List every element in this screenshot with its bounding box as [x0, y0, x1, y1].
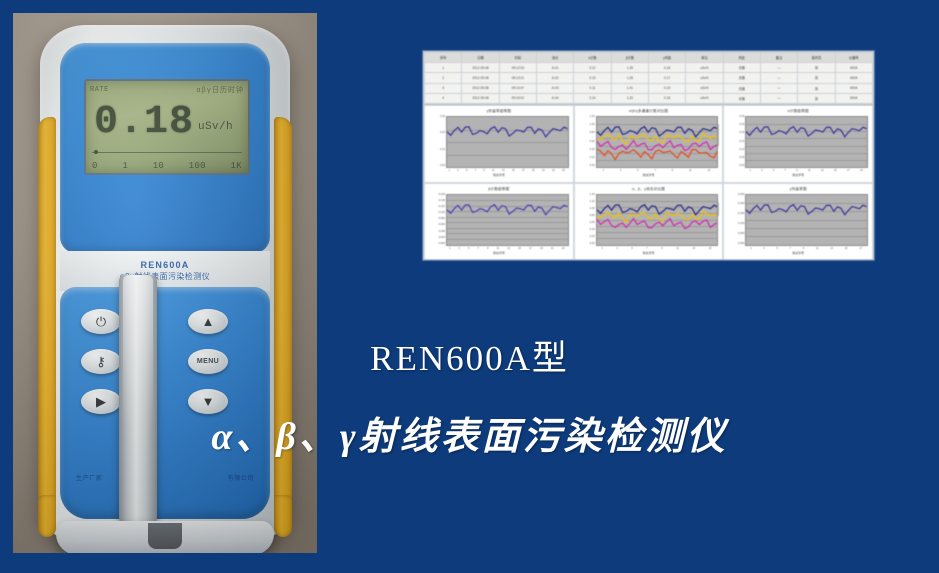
- table-cell: 张: [798, 83, 835, 93]
- lcd-reading: 0.18 uSv/h: [94, 97, 240, 149]
- y-tick-label: 0.040: [439, 231, 446, 234]
- table-cell: 张: [798, 73, 835, 83]
- x-tick-label: 13: [502, 169, 505, 172]
- x-tick-label: 17: [847, 169, 850, 172]
- y-tick-label: 1.00: [590, 208, 595, 211]
- x-tick-label: 19: [860, 169, 863, 172]
- y-tick-label: 0.10: [739, 149, 744, 152]
- probe-connector: [148, 523, 182, 549]
- product-photo: RATE αβγ日历时钟 0.18 uSv/h 0 1 10 100 1K: [13, 13, 317, 553]
- chart-plot-area: 0.1600.1400.1200.1000.0800.0600.0400.020…: [429, 194, 569, 246]
- x-tick-label: 1: [449, 169, 450, 172]
- x-tick-label: 3: [620, 169, 621, 172]
- table-cell: 0.15: [574, 73, 611, 83]
- table-cell: 1.41: [611, 83, 648, 93]
- plot-canvas: [745, 194, 868, 246]
- x-tick-label: 1: [750, 247, 751, 250]
- lcd-display: RATE αβγ日历时钟 0.18 uSv/h 0 1 10 100 1K: [84, 79, 250, 175]
- left-bumper-bottom: [38, 495, 56, 537]
- table-row: 32012-05-0809:14:47A-030.111.410.19uSv/h…: [425, 83, 873, 93]
- table-cell: 2012-05-08: [462, 73, 499, 83]
- x-tick-label: 23: [552, 169, 555, 172]
- series-line: [447, 204, 568, 214]
- table-header-cell: 序号: [425, 53, 462, 63]
- table-header-cell: 判定: [723, 53, 760, 63]
- table-cell: 0.18: [648, 93, 685, 103]
- table-cell: 2: [425, 73, 462, 83]
- y-axis: 1.201.000.800.600.400.200.00: [579, 116, 596, 168]
- series-lines: [447, 195, 568, 245]
- y-tick-label: 0.00: [590, 165, 595, 168]
- x-tick-label: 7: [654, 169, 655, 172]
- table-cell: 合格: [723, 83, 760, 93]
- x-tick-label: 11: [497, 247, 500, 250]
- y-tick-label: 0.100: [738, 223, 745, 226]
- software-screenshot-panel: 序号日期时间测点α计数β计数γ剂量单位判定备注操作员仪器号12012-05-08…: [423, 51, 874, 260]
- table-header-cell: 测点: [536, 53, 573, 63]
- table-cell: 合格: [723, 73, 760, 83]
- table-header-cell: 单位: [686, 53, 723, 63]
- chart-plot-area: 0.2500.2000.1500.1000.0500.000: [728, 194, 868, 246]
- x-tick-label: 3: [761, 169, 762, 172]
- x-tick-label: 17: [859, 247, 862, 250]
- lower-face-panel: ⏻ ⚷ ▶ ▲ MENU ▼: [60, 287, 270, 519]
- y-tick-label: 0.60: [590, 141, 595, 144]
- slide-canvas: RATE αβγ日历时钟 0.18 uSv/h 0 1 10 100 1K: [0, 0, 939, 573]
- y-tick-label: 0.40: [590, 149, 595, 152]
- x-axis: 135791113151719: [728, 169, 868, 172]
- x-tick-label: 11: [676, 247, 679, 250]
- y-tick-label: 0.80: [590, 132, 595, 135]
- chart-title: γ剂量率图: [728, 187, 868, 192]
- measurement-table: 序号日期时间测点α计数β计数γ剂量单位判定备注操作员仪器号12012-05-08…: [424, 52, 873, 104]
- x-tick-label: 5: [637, 169, 638, 172]
- chart-title: α、β、γ综合对比图: [579, 187, 719, 192]
- y-tick-label: 1.20: [590, 201, 595, 204]
- table-cell: —: [760, 93, 797, 103]
- series-lines: [746, 117, 867, 167]
- table-cell: uSv/h: [686, 63, 723, 73]
- lcd-scale: 0 1 10 100 1K: [92, 160, 242, 172]
- y-tick-label: 0.05: [739, 157, 744, 160]
- brand-right-text: 有限公司: [228, 473, 254, 483]
- x-tick-label: 5: [466, 169, 467, 172]
- y-tick-label: 0.000: [738, 243, 745, 246]
- table-cell: 09:14:47: [499, 83, 536, 93]
- table-cell: A-04: [536, 93, 573, 103]
- table-cell: 0.11: [574, 83, 611, 93]
- x-tick-label: 11: [492, 169, 495, 172]
- table-cell: 1.35: [611, 63, 648, 73]
- table-cell: 09:13:21: [499, 73, 536, 83]
- upper-face-panel: RATE αβγ日历时钟 0.18 uSv/h 0 1 10 100 1K: [60, 43, 270, 253]
- table-cell: 2012-05-08: [462, 63, 499, 73]
- lcd-status-bar: RATE αβγ日历时钟: [90, 84, 244, 95]
- table-row: 12012-05-0809:12:03A-010.121.350.18uSv/h…: [425, 63, 873, 73]
- series-lines: [447, 117, 568, 167]
- y-tick-label: 0.100: [439, 212, 446, 215]
- x-tick-label: 13: [692, 247, 695, 250]
- x-axis: 13579111315: [579, 247, 719, 250]
- chart-panel: γ剂量率趋势图0.300.200.100.0013579111315171921…: [424, 105, 574, 183]
- x-tick-label: 11: [689, 169, 692, 172]
- keypad: ⏻ ⚷ ▶ ▲ MENU ▼: [60, 287, 270, 519]
- y-tick-label: 1.40: [590, 194, 595, 197]
- plot-canvas: [596, 194, 719, 246]
- chart-plot-area: 1.401.201.000.800.600.400.200.00: [579, 194, 719, 246]
- chart-title: γ剂量率趋势图: [429, 109, 569, 114]
- series-line: [597, 218, 718, 228]
- lcd-mode-label: RATE: [90, 86, 109, 94]
- x-tick-label: 3: [763, 247, 764, 250]
- x-tick-label: 21: [551, 247, 554, 250]
- x-tick-label: 3: [459, 247, 460, 250]
- y-tick-label: 0.00: [590, 243, 595, 246]
- x-tick-label: 13: [830, 247, 833, 250]
- x-tick-label: 9: [487, 247, 488, 250]
- y-tick-label: 0.20: [739, 132, 744, 135]
- chart-plot-area: 0.300.200.100.00: [429, 116, 569, 168]
- table-cell: uSv/h: [686, 83, 723, 93]
- table-header-cell: 日期: [462, 53, 499, 63]
- chart-panel: α计数趋势图0.300.250.200.150.100.050.00135791…: [723, 105, 873, 183]
- table-cell: 0.17: [648, 73, 685, 83]
- x-axis-label: 测点序号: [429, 173, 569, 177]
- x-tick-label: 17: [522, 169, 525, 172]
- x-tick-label: 15: [709, 247, 712, 250]
- table-row: 22012-05-0809:13:21A-020.151.280.17uSv/h…: [425, 73, 873, 83]
- table-cell: —: [760, 83, 797, 93]
- y-tick-label: 0.10: [440, 149, 445, 152]
- x-axis-label: 测点序号: [579, 173, 719, 177]
- x-tick-label: 7: [478, 247, 479, 250]
- x-tick-label: 23: [562, 247, 565, 250]
- x-tick-label: 3: [616, 247, 617, 250]
- x-tick-label: 9: [672, 169, 673, 172]
- table-cell: 0.18: [648, 63, 685, 73]
- x-axis-label: 测点序号: [579, 251, 719, 255]
- headline-model: REN600A型: [0, 330, 939, 381]
- x-tick-label: 1: [601, 247, 602, 250]
- table-header-cell: 备注: [760, 53, 797, 63]
- x-tick-label: 15: [512, 169, 515, 172]
- headline-description: α、β、γ射线表面污染检测仪: [0, 405, 939, 460]
- series-line: [597, 211, 718, 222]
- x-tick-label: 13: [821, 169, 824, 172]
- table-cell: 3: [425, 83, 462, 93]
- lcd-unit: uSv/h: [198, 121, 233, 133]
- chart-grid: γ剂量率趋势图0.300.200.100.0013579111315171921…: [424, 105, 873, 260]
- center-grip-strip: [119, 275, 157, 529]
- x-tick-label: 15: [518, 247, 521, 250]
- headline-model-text: REN600A型: [370, 339, 569, 378]
- chart-plot-area: 0.300.250.200.150.100.050.00: [728, 116, 868, 168]
- x-axis-label: 测点序号: [429, 251, 569, 255]
- x-tick-label: 5: [773, 169, 774, 172]
- y-axis: 0.300.200.100.00: [429, 116, 446, 168]
- table-cell: A-02: [536, 73, 573, 83]
- table-cell: 600A: [835, 63, 872, 73]
- table-cell: uSv/h: [686, 73, 723, 83]
- x-tick-label: 15: [834, 169, 837, 172]
- right-bumper-bottom: [274, 495, 292, 537]
- device-brand-row: 生产厂家 有限公司: [60, 473, 270, 483]
- y-tick-label: 0.40: [590, 229, 595, 232]
- table-cell: 1: [425, 63, 462, 73]
- y-tick-label: 0.150: [738, 213, 745, 216]
- y-tick-label: 0.00: [739, 165, 744, 168]
- y-axis: 0.300.250.200.150.100.050.00: [728, 116, 745, 168]
- y-tick-label: 0.20: [590, 157, 595, 160]
- lcd-tick-2: 10: [153, 161, 164, 171]
- chart-panel: γ剂量率图0.2500.2000.1500.1000.0500.00013579…: [723, 183, 873, 261]
- x-tick-label: 5: [776, 247, 777, 250]
- y-tick-label: 0.80: [590, 215, 595, 218]
- series-lines: [597, 195, 718, 245]
- y-tick-label: 0.20: [590, 236, 595, 239]
- series-line: [746, 127, 867, 137]
- table-cell: 2012-05-08: [462, 93, 499, 103]
- table-cell: 09:16:02: [499, 93, 536, 103]
- x-tick-label: 9: [803, 247, 804, 250]
- x-axis: 1357911131517: [728, 247, 868, 250]
- x-tick-label: 19: [540, 247, 543, 250]
- chart-title: α计数趋势图: [728, 109, 868, 114]
- x-tick-label: 9: [483, 169, 484, 172]
- y-tick-label: 0.250: [738, 194, 745, 197]
- chart-plot-area: 1.201.000.800.600.400.200.00: [579, 116, 719, 168]
- table-header-row: 序号日期时间测点α计数β计数γ剂量单位判定备注操作员仪器号: [425, 53, 873, 63]
- x-tick-label: 7: [646, 247, 647, 250]
- lcd-clock-label: αβγ日历时钟: [196, 85, 244, 95]
- x-tick-label: 13: [507, 247, 510, 250]
- data-table: 序号日期时间测点α计数β计数γ剂量单位判定备注操作员仪器号12012-05-08…: [424, 52, 873, 105]
- y-tick-label: 0.050: [738, 233, 745, 236]
- chart-title: α/β/γ多通道计数对比图: [579, 109, 719, 114]
- lcd-bargraph: [92, 152, 242, 157]
- table-header-cell: 时间: [499, 53, 536, 63]
- x-axis: 1357911131517192123: [429, 247, 569, 250]
- y-tick-label: 0.200: [738, 203, 745, 206]
- table-header-cell: 仪器号: [835, 53, 872, 63]
- table-header-cell: α计数: [574, 53, 611, 63]
- x-tick-label: 25: [562, 169, 565, 172]
- chart-panel: α、β、γ综合对比图αβγ1.401.201.000.800.600.400.2…: [574, 183, 724, 261]
- y-tick-label: 0.00: [440, 165, 445, 168]
- y-axis: 0.1600.1400.1200.1000.0800.0600.0400.020…: [429, 194, 446, 246]
- y-tick-label: 0.20: [440, 132, 445, 135]
- y-tick-label: 1.00: [590, 124, 595, 127]
- table-cell: 09:12:03: [499, 63, 536, 73]
- x-tick-label: 7: [785, 169, 786, 172]
- table-cell: 600A: [835, 73, 872, 83]
- table-header-cell: γ剂量: [648, 53, 685, 63]
- table-row: 42012-05-0809:16:02A-040.141.330.18uSv/h…: [425, 93, 873, 103]
- y-tick-label: 0.160: [439, 194, 446, 197]
- series-line: [447, 127, 568, 137]
- y-tick-label: 0.120: [439, 206, 446, 209]
- x-axis-label: 测点序号: [728, 251, 868, 255]
- table-cell: 600A: [835, 83, 872, 93]
- y-tick-label: 0.060: [439, 224, 446, 227]
- x-tick-label: 13: [708, 169, 711, 172]
- series-lines: [746, 195, 867, 245]
- plot-canvas: [446, 116, 569, 168]
- table-cell: uSv/h: [686, 93, 723, 103]
- table-cell: 0.19: [648, 83, 685, 93]
- table-cell: 1.28: [611, 73, 648, 83]
- plot-canvas: [596, 116, 719, 168]
- table-cell: —: [760, 73, 797, 83]
- table-cell: 张: [798, 63, 835, 73]
- series-line: [597, 127, 718, 137]
- lcd-tick-1: 1: [122, 161, 128, 171]
- radiation-meter-device: RATE αβγ日历时钟 0.18 uSv/h 0 1 10 100 1K: [40, 25, 290, 545]
- table-cell: 0.14: [574, 93, 611, 103]
- chart-title: β计数趋势图: [429, 187, 569, 192]
- x-tick-label: 9: [661, 247, 662, 250]
- y-tick-label: 1.20: [590, 116, 595, 119]
- x-tick-label: 3: [457, 169, 458, 172]
- table-cell: 4: [425, 93, 462, 103]
- table-cell: A-03: [536, 83, 573, 93]
- table-cell: 0.12: [574, 63, 611, 73]
- x-tick-label: 1: [603, 169, 604, 172]
- table-cell: —: [760, 63, 797, 73]
- x-axis: 135791113151719212325: [429, 169, 569, 172]
- y-axis: 0.2500.2000.1500.1000.0500.000: [728, 194, 745, 246]
- x-tick-label: 9: [796, 169, 797, 172]
- table-cell: 合格: [723, 93, 760, 103]
- table-cell: 2012-05-08: [462, 83, 499, 93]
- lcd-tick-3: 100: [189, 161, 206, 171]
- chart-panel: α/β/γ多通道计数对比图α计数β计数γ计数本底值1.201.000.800.6…: [574, 105, 724, 183]
- y-tick-label: 0.140: [439, 200, 446, 203]
- brand-left-text: 生产厂家: [76, 473, 102, 483]
- lcd-value: 0.18: [94, 103, 194, 143]
- y-tick-label: 0.000: [439, 243, 446, 246]
- chart-panel: β计数趋势图0.1600.1400.1200.1000.0800.0600.04…: [424, 183, 574, 261]
- lcd-tick-4: 1K: [231, 161, 242, 171]
- y-axis: 1.401.201.000.800.600.400.200.00: [579, 194, 596, 246]
- device-model-label: REN600A: [141, 260, 190, 270]
- table-cell: 600A: [835, 93, 872, 103]
- series-line: [597, 133, 718, 144]
- y-tick-label: 0.60: [590, 222, 595, 225]
- x-tick-label: 11: [808, 169, 811, 172]
- table-cell: 合格: [723, 63, 760, 73]
- lcd-tick-0: 0: [92, 161, 98, 171]
- x-tick-label: 5: [468, 247, 469, 250]
- series-lines: [597, 117, 718, 167]
- table-cell: 张: [798, 93, 835, 103]
- power-icon: ⏻: [96, 315, 106, 328]
- table-header-cell: 操作员: [798, 53, 835, 63]
- x-tick-label: 15: [845, 247, 848, 250]
- x-tick-label: 5: [631, 247, 632, 250]
- y-tick-label: 0.30: [739, 116, 744, 119]
- series-line: [597, 141, 718, 151]
- table-header-cell: β计数: [611, 53, 648, 63]
- series-line: [597, 204, 718, 214]
- series-line: [746, 204, 867, 214]
- plot-canvas: [745, 116, 868, 168]
- x-axis-label: 测点序号: [728, 173, 868, 177]
- x-tick-label: 1: [749, 169, 750, 172]
- x-axis: 135791113: [579, 169, 719, 172]
- x-tick-label: 19: [532, 169, 535, 172]
- y-tick-label: 0.25: [739, 124, 744, 127]
- device-label: REN600A αβγ射线表面污染检测仪: [60, 251, 270, 291]
- arrow-up-icon: ▲: [202, 315, 215, 328]
- table-cell: A-01: [536, 63, 573, 73]
- headline-description-text: α、β、γ射线表面污染检测仪: [211, 416, 727, 458]
- y-tick-label: 0.080: [439, 218, 446, 221]
- x-tick-label: 7: [475, 169, 476, 172]
- x-tick-label: 21: [542, 169, 545, 172]
- series-line: [597, 149, 718, 159]
- y-tick-label: 0.30: [440, 116, 445, 119]
- plot-canvas: [446, 194, 569, 246]
- y-tick-label: 0.020: [439, 237, 446, 240]
- x-tick-label: 17: [529, 247, 532, 250]
- x-tick-label: 11: [816, 247, 819, 250]
- y-tick-label: 0.15: [739, 141, 744, 144]
- table-cell: 1.33: [611, 93, 648, 103]
- x-tick-label: 7: [790, 247, 791, 250]
- x-tick-label: 1: [449, 247, 450, 250]
